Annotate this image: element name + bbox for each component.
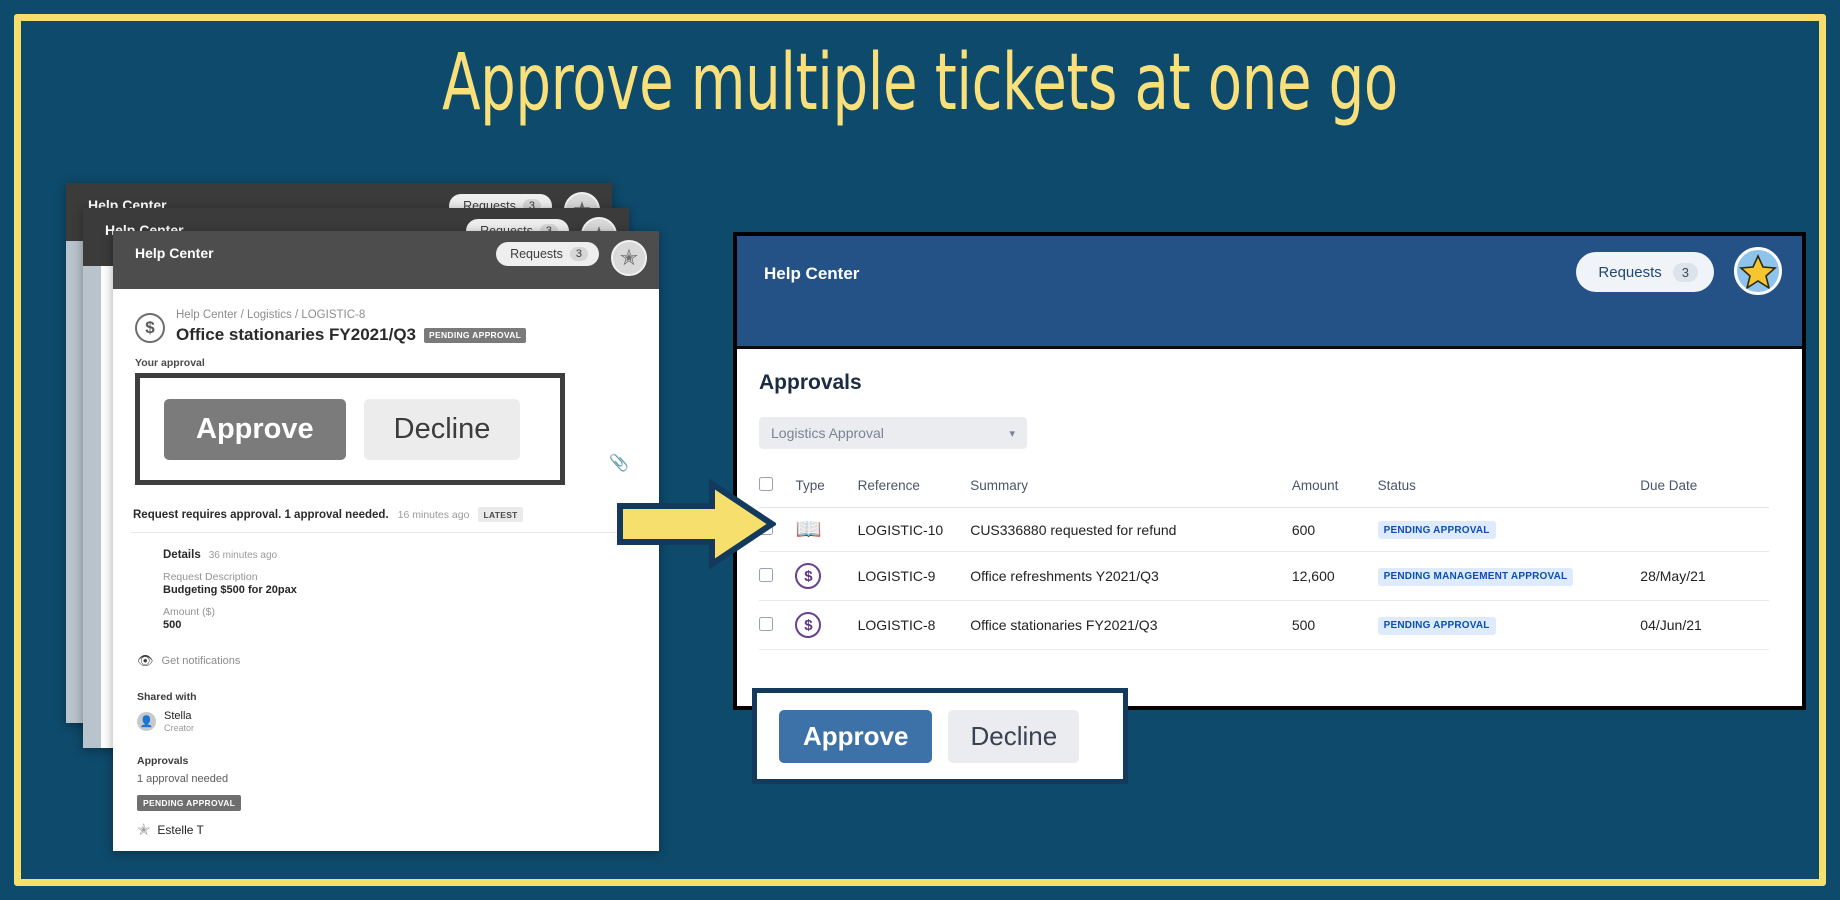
- page-title: Approve multiple tickets at one go: [258, 44, 1583, 122]
- status-badge: PENDING APPROVAL: [1378, 521, 1496, 539]
- book-icon: 📖: [795, 518, 821, 541]
- breadcrumb-item-2[interactable]: LOGISTIC-8: [301, 309, 365, 321]
- approvals-body: Approvals Logistics Approval ▾ Type Refe…: [737, 349, 1802, 707]
- row-status-cell: PENDING APPROVAL: [1378, 508, 1641, 552]
- details-block: Details 36 minutes ago Request Descripti…: [163, 549, 659, 631]
- table-row[interactable]: 📖 LOGISTIC-10 CUS336880 requested for re…: [759, 508, 1769, 552]
- chevron-down-icon: ▾: [1009, 427, 1015, 440]
- approvals-window: Help Center Requests 3 Approvals Logisti…: [733, 232, 1806, 710]
- app-title: Help Center: [135, 245, 214, 261]
- breadcrumb-sep: /: [241, 309, 244, 321]
- arrow-pointer-icon: [616, 478, 776, 570]
- starfish-avatar-icon[interactable]: [1734, 247, 1782, 295]
- details-heading: Details: [163, 549, 201, 561]
- column-header-type[interactable]: Type: [795, 477, 857, 508]
- dollar-coin-icon: $: [795, 612, 821, 638]
- approvals-needed: 1 approval needed: [137, 773, 659, 785]
- approver-row: ✭ Estelle T: [137, 820, 659, 840]
- ticket-detail-window: Help Center Requests 3 ✭ $ Help Center /…: [113, 231, 659, 851]
- field-amount: Amount ($) 500: [163, 606, 659, 631]
- person-name: Stella: [164, 710, 194, 723]
- requests-count: 3: [570, 247, 588, 261]
- row-type-cell: 📖: [795, 508, 857, 552]
- breadcrumb-item-0[interactable]: Help Center: [176, 309, 237, 321]
- status-badge: PENDING APPROVAL: [424, 328, 526, 343]
- left-sidebar: [66, 241, 84, 723]
- row-type-cell: $: [795, 552, 857, 601]
- your-approval-label: Your approval: [135, 357, 659, 369]
- requests-count: 3: [1673, 263, 1698, 282]
- row-due-date: 28/May/21: [1640, 552, 1769, 601]
- get-notifications-label: Get notifications: [162, 655, 241, 667]
- bulk-approval-action-box: Approve Decline: [752, 688, 1128, 784]
- column-header-due-date[interactable]: Due Date: [1640, 477, 1769, 508]
- row-status-cell: PENDING MANAGEMENT APPROVAL: [1378, 552, 1641, 601]
- row-due-date: 04/Jun/21: [1640, 601, 1769, 650]
- field-label: Amount ($): [163, 606, 659, 618]
- row-reference[interactable]: LOGISTIC-8: [858, 601, 971, 650]
- get-notifications-row[interactable]: 👁 Get notifications: [137, 653, 659, 669]
- approve-button[interactable]: Approve: [779, 710, 932, 763]
- dollar-coin-icon: $: [135, 313, 165, 343]
- shared-with-label: Shared with: [137, 691, 659, 703]
- status-badge: PENDING APPROVAL: [1378, 617, 1496, 635]
- approvals-label: Approvals: [137, 755, 659, 767]
- approvals-status-badge: PENDING APPROVAL: [137, 795, 241, 811]
- approver-name: Estelle T: [157, 823, 203, 837]
- activity-time: 16 minutes ago: [398, 509, 470, 521]
- field-label: Request Description: [163, 571, 659, 583]
- activity-text: Request requires approval. 1 approval ne…: [133, 509, 389, 521]
- column-header-reference[interactable]: Reference: [858, 477, 971, 508]
- status-badge: PENDING MANAGEMENT APPROVAL: [1378, 568, 1574, 586]
- row-amount: 500: [1292, 601, 1378, 650]
- row-reference[interactable]: LOGISTIC-10: [858, 508, 971, 552]
- details-time: 36 minutes ago: [209, 550, 277, 561]
- decline-button[interactable]: Decline: [948, 710, 1079, 763]
- latest-tag: LATEST: [478, 507, 522, 522]
- avatar: 👤: [137, 712, 156, 731]
- row-checkbox[interactable]: [759, 617, 773, 631]
- row-summary[interactable]: CUS336880 requested for refund: [970, 508, 1292, 552]
- row-status-cell: PENDING APPROVAL: [1378, 601, 1641, 650]
- star-avatar-icon[interactable]: ✭: [611, 240, 647, 276]
- row-select-cell: [759, 601, 795, 650]
- row-summary[interactable]: Office stationaries FY2021/Q3: [970, 601, 1292, 650]
- breadcrumb-sep: /: [295, 309, 298, 321]
- row-amount: 600: [1292, 508, 1378, 552]
- field-value: Budgeting $500 for 20pax: [163, 584, 659, 596]
- requests-pill[interactable]: Requests 3: [1576, 252, 1714, 292]
- row-amount: 12,600: [1292, 552, 1378, 601]
- ticket-detail-body: $ Help Center / Logistics / LOGISTIC-8 O…: [113, 289, 659, 840]
- ticket-header: $ Help Center / Logistics / LOGISTIC-8 O…: [113, 307, 659, 345]
- star-avatar-icon: ✭: [137, 820, 150, 840]
- window-topbar: Help Center Requests 3: [737, 236, 1802, 349]
- requests-pill[interactable]: Requests 3: [496, 242, 599, 266]
- table-row[interactable]: $ LOGISTIC-9 Office refreshments Y2021/Q…: [759, 552, 1769, 601]
- row-type-cell: $: [795, 601, 857, 650]
- approvals-table: Type Reference Summary Amount Status Due…: [759, 477, 1769, 650]
- approve-button[interactable]: Approve: [164, 399, 346, 460]
- requests-label: Requests: [510, 247, 563, 261]
- column-header-amount[interactable]: Amount: [1292, 477, 1378, 508]
- eye-icon: 👁: [137, 653, 154, 669]
- dollar-coin-icon: $: [795, 563, 821, 589]
- column-header-summary[interactable]: Summary: [970, 477, 1292, 508]
- approval-filter-select[interactable]: Logistics Approval ▾: [759, 417, 1027, 449]
- window-topbar: Help Center Requests 3 ✭: [113, 231, 659, 289]
- column-header-status[interactable]: Status: [1378, 477, 1641, 508]
- table-row[interactable]: $ LOGISTIC-8 Office stationaries FY2021/…: [759, 601, 1769, 650]
- shared-person: 👤 Stella Creator: [137, 710, 659, 733]
- field-value: 500: [163, 619, 659, 631]
- approval-filter-value: Logistics Approval: [771, 425, 884, 441]
- row-reference[interactable]: LOGISTIC-9: [858, 552, 971, 601]
- activity-line: Request requires approval. 1 approval ne…: [133, 507, 659, 522]
- page-heading: Approvals: [759, 371, 1802, 395]
- person-role: Creator: [164, 723, 194, 733]
- ticket-title: Office stationaries FY2021/Q3: [176, 325, 416, 345]
- breadcrumb: Help Center / Logistics / LOGISTIC-8: [176, 307, 526, 324]
- paperclip-icon[interactable]: 📎: [609, 453, 629, 473]
- field-request-description: Request Description Budgeting $500 for 2…: [163, 571, 659, 596]
- app-title: Help Center: [764, 264, 859, 284]
- requests-label: Requests: [1598, 264, 1661, 281]
- left-sidebar: [83, 266, 101, 748]
- table-header-row: Type Reference Summary Amount Status Due…: [759, 477, 1769, 508]
- decline-button[interactable]: Decline: [364, 399, 521, 460]
- row-summary[interactable]: Office refreshments Y2021/Q3: [970, 552, 1292, 601]
- row-due-date: [1640, 508, 1769, 552]
- divider: [131, 532, 641, 533]
- approval-action-box: Approve Decline: [135, 373, 565, 485]
- breadcrumb-item-1[interactable]: Logistics: [247, 309, 292, 321]
